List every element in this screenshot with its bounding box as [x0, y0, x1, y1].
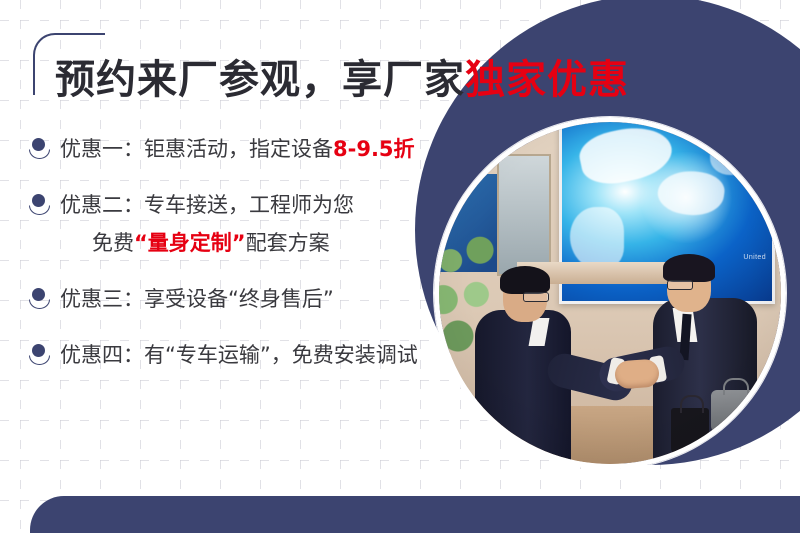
- list-item-accent: 8-9.5折: [333, 137, 415, 161]
- list-item-text: 优惠四：有“专车运输”，免费安装调试: [60, 338, 418, 372]
- list-item-plain: 优惠三：享受设备“终身售后”: [60, 287, 334, 311]
- list-item: 优惠一：钜惠活动，指定设备8-9.5折: [28, 132, 448, 166]
- list-item-block: 优惠二：专车接送，工程师为您 免费“量身定制”配套方案: [60, 188, 354, 260]
- bullet-dot: [32, 288, 45, 301]
- promo-banner: United United: [0, 0, 800, 533]
- bullet-dot: [32, 344, 45, 357]
- grid-line-vertical: [20, 0, 21, 533]
- bottom-navy-bar: [30, 496, 800, 533]
- circle-arc-bullet-icon: [28, 132, 50, 162]
- handshake-photo-circle: United United: [434, 117, 786, 469]
- photo-vignette: [439, 122, 781, 464]
- subline-accent: “量身定制”: [134, 231, 246, 255]
- title-plain: 预约来厂参观，享厂家: [55, 57, 465, 103]
- page-title: 预约来厂参观，享厂家独家优惠: [55, 47, 629, 105]
- subline-suffix: 配套方案: [246, 231, 330, 255]
- list-item-text: 优惠二：专车接送，工程师为您: [60, 193, 354, 217]
- list-item: 优惠三：享受设备“终身售后”: [28, 282, 448, 316]
- list-item-plain: 优惠一：钜惠活动，指定设备: [60, 137, 333, 161]
- list-item-plain: 优惠四：有“专车运输”，免费安装调试: [60, 343, 418, 367]
- title-accent: 独家优惠: [465, 57, 629, 103]
- circle-arc-bullet-icon: [28, 188, 50, 218]
- subline-prefix: 免费: [92, 231, 134, 255]
- list-item: 优惠二：专车接送，工程师为您 免费“量身定制”配套方案: [28, 188, 448, 260]
- list-item: 优惠四：有“专车运输”，免费安装调试: [28, 338, 448, 372]
- circle-arc-bullet-icon: [28, 338, 50, 368]
- photo-content: United United: [439, 122, 781, 464]
- list-item-plain: 优惠二：专车接送，工程师为您: [60, 193, 354, 217]
- list-item-text: 优惠三：享受设备“终身售后”: [60, 282, 334, 316]
- bullet-dot: [32, 194, 45, 207]
- list-item-text: 优惠一：钜惠活动，指定设备8-9.5折: [60, 132, 415, 166]
- circle-arc-bullet-icon: [28, 282, 50, 312]
- list-item-subline: 免费“量身定制”配套方案: [92, 226, 354, 260]
- bullet-dot: [32, 138, 45, 151]
- benefit-list: 优惠一：钜惠活动，指定设备8-9.5折 优惠二：专车接送，工程师为您 免费“量身…: [28, 132, 448, 394]
